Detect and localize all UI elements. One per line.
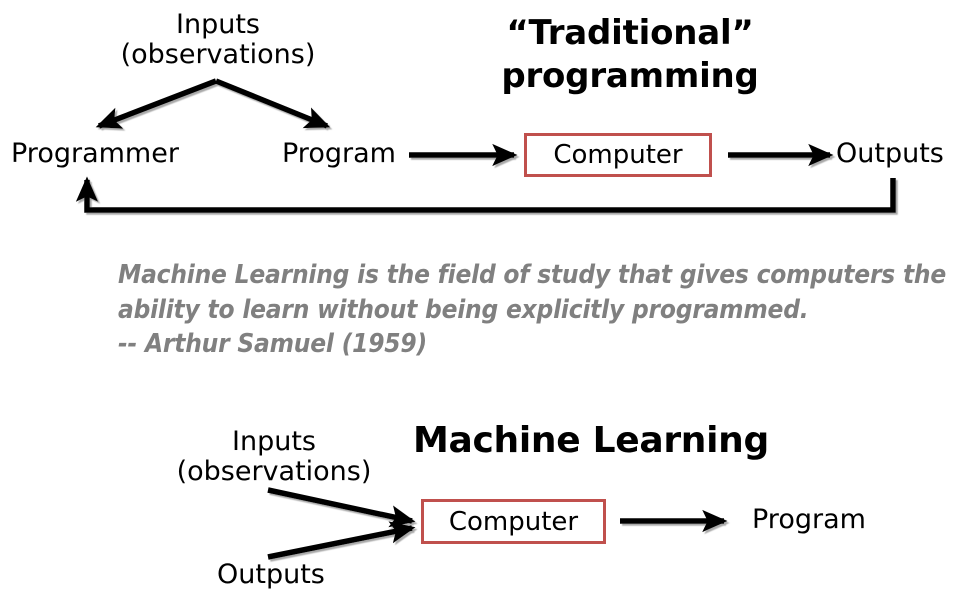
arrow-inputs-to-programmer xyxy=(99,81,216,126)
ml-inputs-label: Inputs (observations) xyxy=(168,427,380,487)
traditional-inputs-line2: (observations) xyxy=(88,40,348,70)
program-label: Program xyxy=(282,139,396,169)
arrow-ml-inputs-to-computer xyxy=(268,490,412,521)
ml-computer-box[interactable]: Computer xyxy=(421,499,606,544)
arrow-feedback-loop xyxy=(87,178,893,210)
samuel-quote: Machine Learning is the field of study t… xyxy=(118,258,948,362)
programmer-label: Programmer xyxy=(11,139,179,169)
ml-computer-label: Computer xyxy=(449,507,578,537)
ml-inputs-line2: (observations) xyxy=(168,457,380,487)
quote-text: Machine Learning is the field of study t… xyxy=(118,260,946,325)
arrow-inputs-to-program xyxy=(216,81,327,126)
traditional-inputs-line1: Inputs xyxy=(88,10,348,40)
traditional-outputs-label: Outputs xyxy=(836,139,944,169)
traditional-title-line2: programming xyxy=(450,55,810,98)
ml-outputs-label: Outputs xyxy=(217,560,325,590)
traditional-computer-box[interactable]: Computer xyxy=(524,133,712,177)
traditional-title: “Traditional” programming xyxy=(450,12,810,97)
quote-attribution: -- Arthur Samuel (1959) xyxy=(118,327,948,362)
traditional-title-line1: “Traditional” xyxy=(450,12,810,55)
diagram-canvas: “Traditional” programming Inputs (observ… xyxy=(0,0,960,608)
ml-inputs-line1: Inputs xyxy=(168,427,380,457)
ml-title: Machine Learning xyxy=(398,420,784,461)
traditional-computer-label: Computer xyxy=(553,140,682,170)
arrow-ml-outputs-to-computer xyxy=(268,528,412,557)
traditional-inputs-label: Inputs (observations) xyxy=(88,10,348,70)
ml-program-label: Program xyxy=(752,505,866,535)
